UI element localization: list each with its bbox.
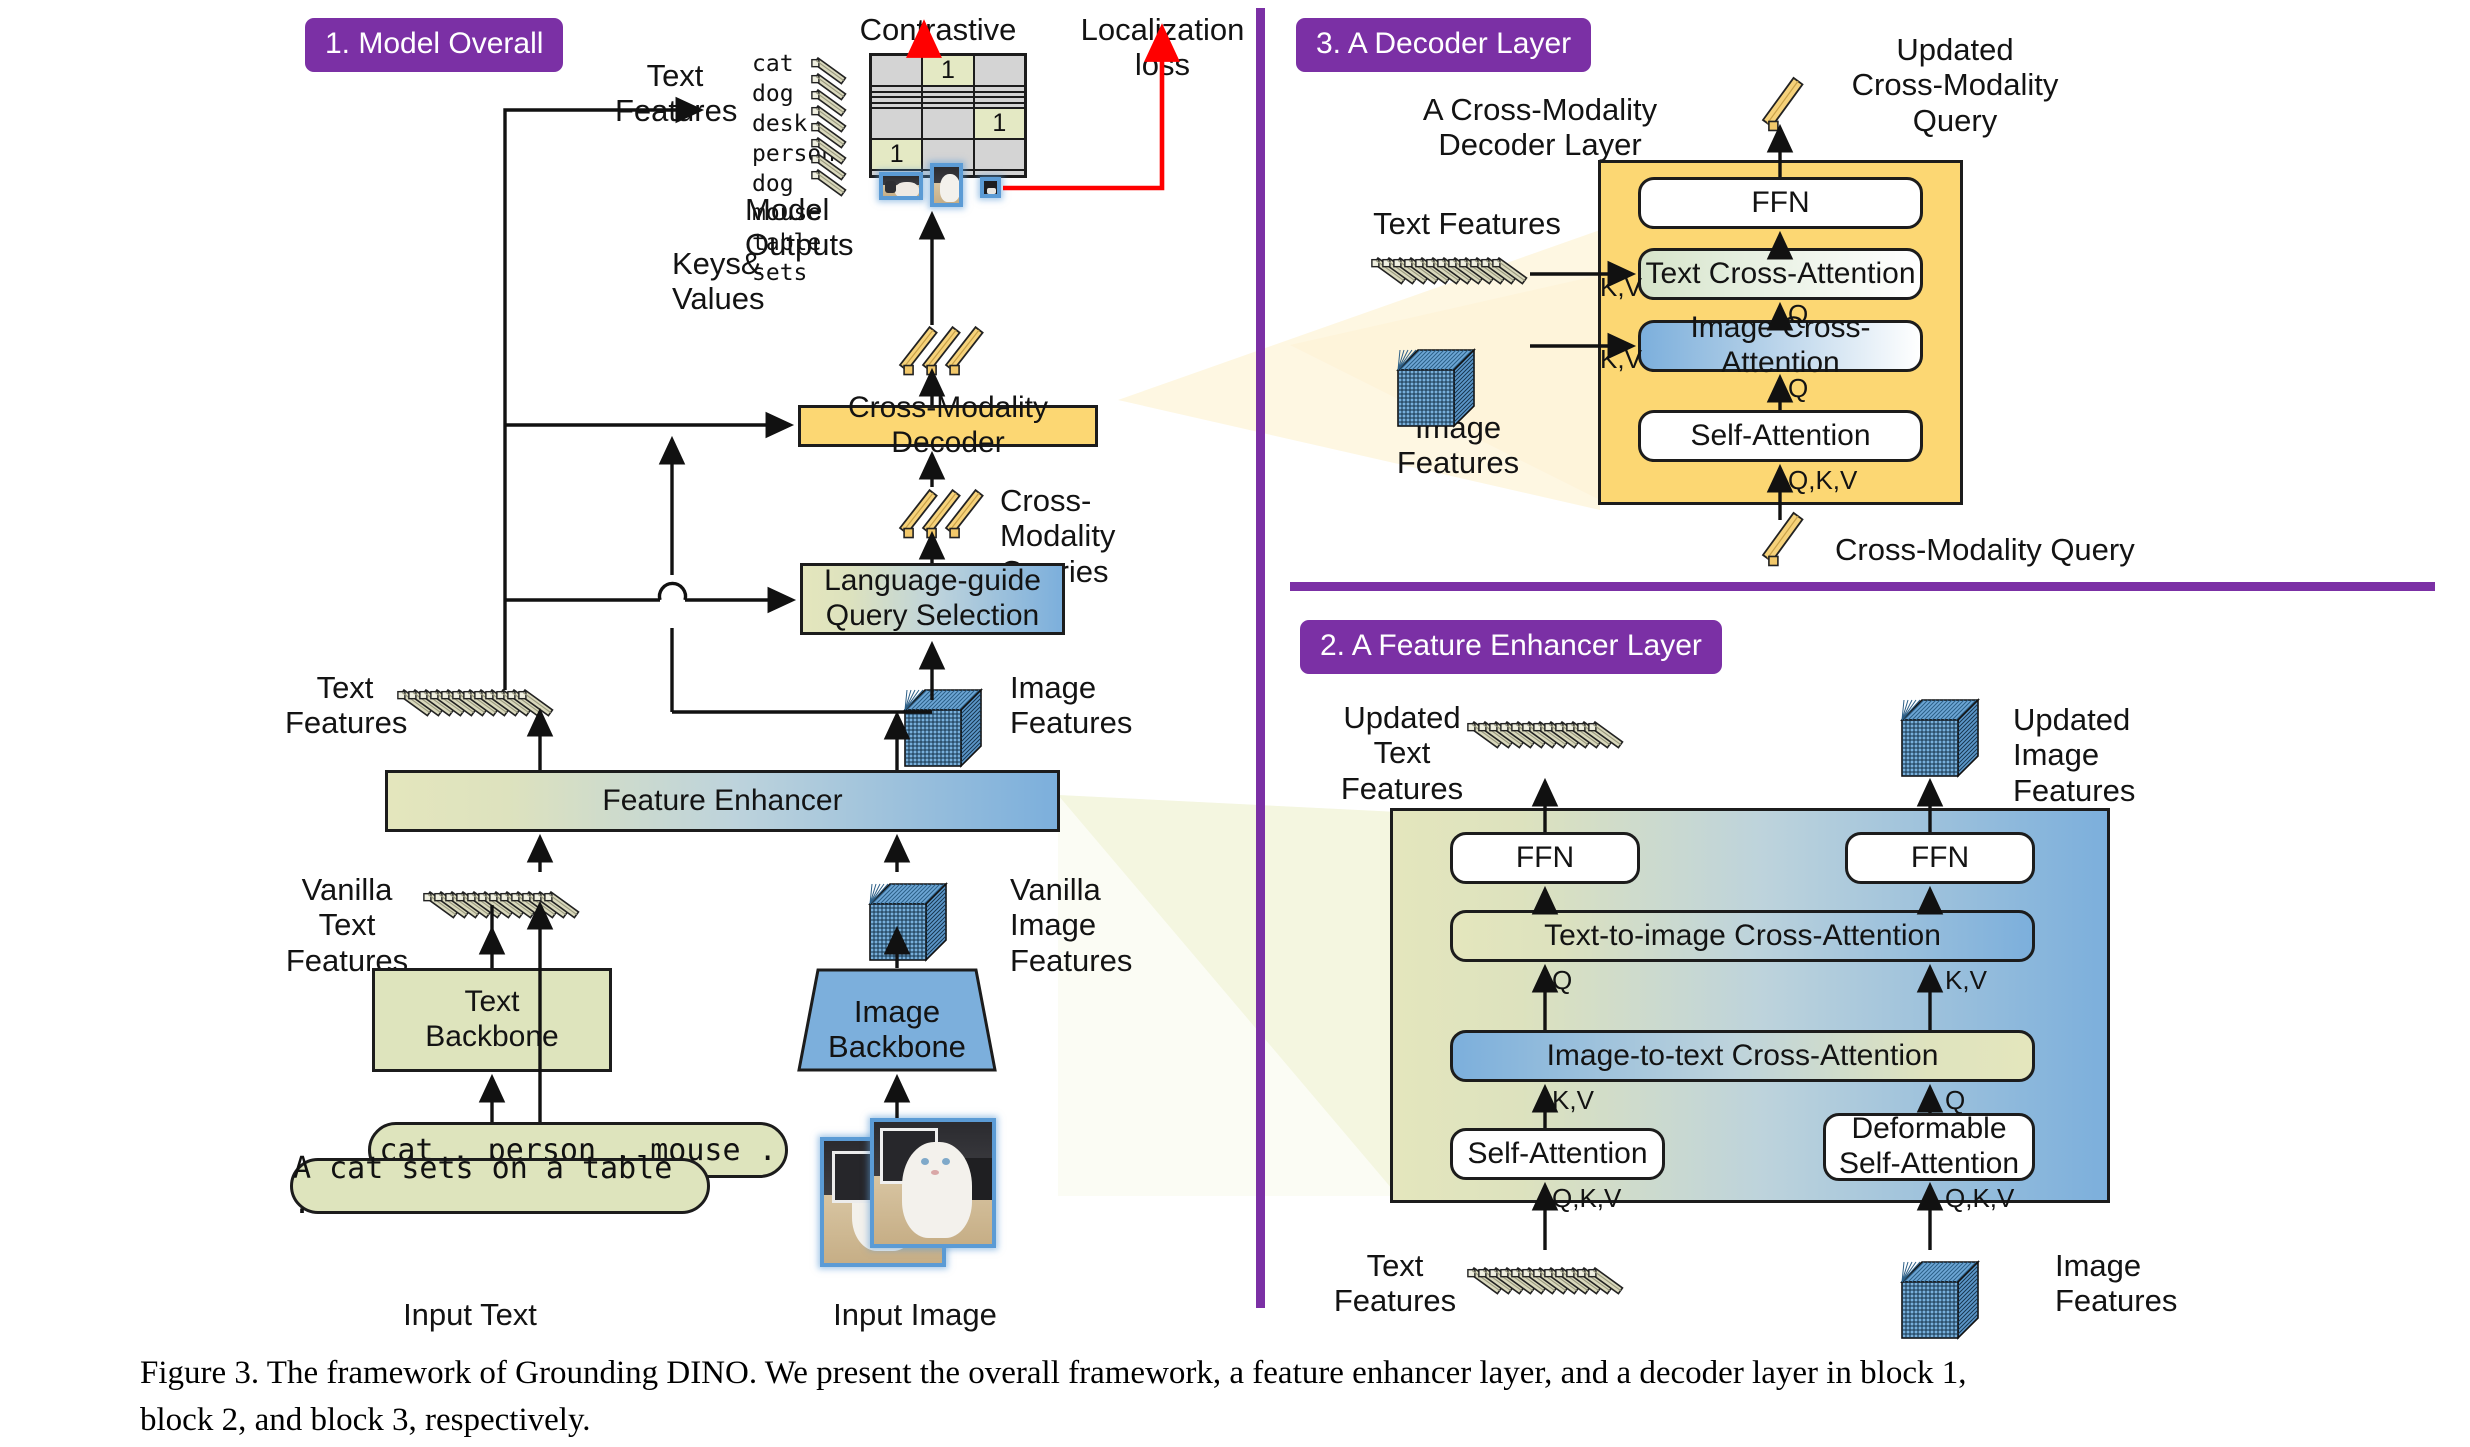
matrix-cell [975,171,1024,175]
vanilla-text-features-label: Vanilla Text Features [272,872,422,978]
block2-image-features-label: Image Features [2055,1248,2195,1319]
figure-grounding-dino: 1. Model Overall Contrastive loss Locali… [0,0,2470,1447]
figure-caption: Figure 3. The framework of Grounding DIN… [140,1350,2360,1444]
cross-modality-query-label: Cross-Modality Query [1835,532,2135,567]
prompt-sentence-pill[interactable]: A cat sets on a table . [290,1158,710,1214]
matrix-cell: 1 [923,56,972,85]
vertical-divider [1256,8,1265,1308]
matrix-cell [923,93,972,97]
block3-text-features-label: Text Features [1372,206,1562,241]
block3-tag: 3. A Decoder Layer [1296,18,1591,72]
enhancer-ffn-right-box[interactable]: FFN [1845,832,2035,884]
image-to-text-cross-attention-box[interactable]: Image-to-text Cross-Attention [1450,1030,2035,1082]
matrix-cell [975,104,1024,108]
matrix-cell [872,93,921,97]
enhancer-kv-right-label: K,V [1945,966,2005,996]
matrix-cell [872,98,921,102]
word-token: dog [752,80,832,110]
matrix-cell [975,56,1024,85]
keys-values-label: Keys& Values [672,246,782,317]
caption-line-2: block 2, and block 3, respectively. [140,1397,2360,1444]
decoder-qkv-label: Q,K,V [1788,466,1868,496]
decoder-text-cross-attention-box[interactable]: Text Cross-Attention [1638,248,1923,300]
matrix-cell [975,140,1024,169]
model-output-thumb-3 [980,177,1001,198]
horizontal-divider [1290,582,2435,591]
cross-modality-decoder-box[interactable]: Cross-Modality Decoder [798,405,1098,447]
input-text-label: Input Text [355,1297,585,1332]
enhancer-qkv-right-label: Q,K,V [1945,1184,2025,1214]
decoder-q-image-label: Q [1788,374,1818,404]
block1-tag: 1. Model Overall [305,18,563,72]
enhancer-q-right-label: Q [1945,1086,1975,1116]
caption-line-1: Figure 3. The framework of Grounding DIN… [140,1350,2360,1397]
decoder-q-text-label: Q [1788,300,1818,330]
matrix-cell [975,87,1024,91]
block2-tag: 2. A Feature Enhancer Layer [1300,620,1722,674]
input-image-label: Input Image [800,1297,1030,1332]
matrix-cell [923,98,972,102]
matrix-cell [872,87,921,91]
matrix-cell [975,98,1024,102]
decoder-self-attention-box[interactable]: Self-Attention [1638,410,1923,462]
model-output-thumb-2 [930,163,963,207]
matrix-cell [872,56,921,85]
word-token: cat [752,50,832,80]
decoder-text-kv-label: K,V [1600,273,1646,303]
enhancer-qkv-left-label: Q,K,V [1552,1184,1632,1214]
enhancer-kv-left-label: K,V [1552,1086,1612,1116]
matrix-cell [872,109,921,138]
matrix-cell [975,93,1024,97]
vanilla-image-features-label: Vanilla Image Features [1010,872,1190,978]
image-features-mid-label: Image Features [1010,670,1140,741]
contrastive-matrix: 111 [869,53,1027,178]
text-backbone-box[interactable]: Text Backbone [372,968,612,1072]
localization-loss-label: Localization loss [1055,12,1270,83]
matrix-cell: 1 [872,140,921,169]
deformable-self-attention-box[interactable]: Deformable Self-Attention [1823,1113,2035,1181]
text-features-mid-label: Text Features [285,670,405,741]
decoder-image-cross-attention-box[interactable]: Image Cross-Attention [1638,320,1923,372]
language-guide-query-selection-box[interactable]: Language-guide Query Selection [800,563,1065,635]
matrix-cell [923,87,972,91]
decoder-ffn-box[interactable]: FFN [1638,177,1923,229]
block3-subtitle: A Cross-Modality Decoder Layer [1400,92,1680,163]
image-backbone-box[interactable]: Image Backbone [797,968,997,1072]
image-backbone-label: Image Backbone [797,994,997,1065]
text-features-top-label: Text Features [615,58,735,129]
feature-enhancer-box[interactable]: Feature Enhancer [385,770,1060,832]
matrix-cell [923,109,972,138]
word-token: person [752,140,832,170]
updated-cross-modality-query-label: Updated Cross-Modality Query [1835,32,2075,138]
block2-text-features-label: Text Features [1330,1248,1460,1319]
text-to-image-cross-attention-box[interactable]: Text-to-image Cross-Attention [1450,910,2035,962]
updated-image-features-label: Updated Image Features [2013,702,2213,808]
matrix-cell [923,104,972,108]
enhancer-self-attention-box[interactable]: Self-Attention [1450,1128,1665,1180]
decoder-image-kv-label: K,V [1600,345,1646,375]
updated-text-features-label: Updated Text Features [1312,700,1492,806]
enhancer-q-left-label: Q [1552,966,1582,996]
block3-image-features-label: Image Features [1358,410,1558,481]
input-image-thumb-front [870,1118,996,1248]
matrix-cell: 1 [975,109,1024,138]
word-token: desk [752,110,832,140]
matrix-cell [872,104,921,108]
enhancer-ffn-left-box[interactable]: FFN [1450,832,1640,884]
